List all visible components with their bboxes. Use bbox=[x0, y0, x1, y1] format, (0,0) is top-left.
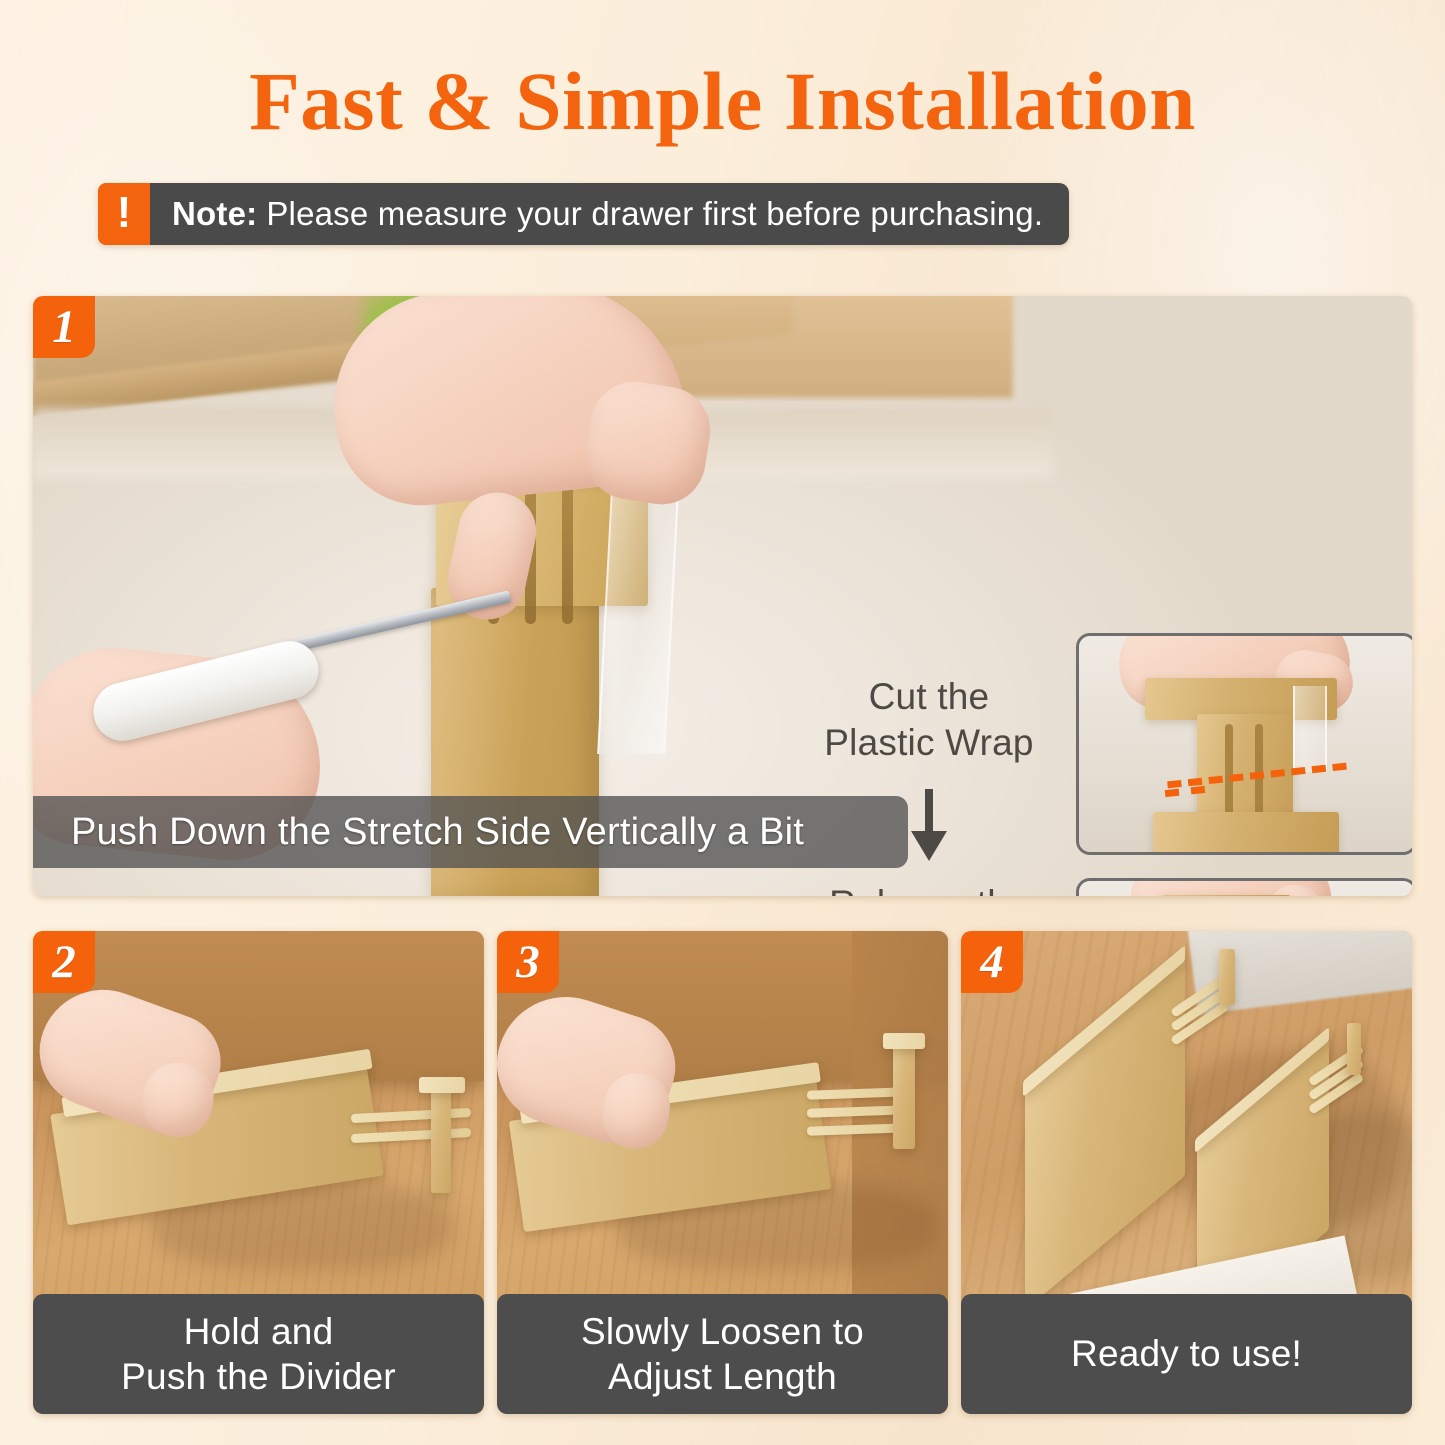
infographic-root: Fast & Simple Installation ! Note: Pleas… bbox=[0, 0, 1445, 1445]
divider-end-cap bbox=[883, 1033, 925, 1049]
caption-line: Push the Divider bbox=[121, 1354, 396, 1399]
note-label: Note: bbox=[172, 195, 257, 233]
caption-line: Hold and bbox=[184, 1309, 334, 1354]
down-arrow-icon bbox=[919, 789, 939, 861]
divider-end-cap bbox=[419, 1077, 465, 1093]
annotation-line: Plastic Wrap bbox=[793, 720, 1065, 766]
caption-line: Ready to use! bbox=[1071, 1331, 1302, 1376]
step-4-caption: Ready to use! bbox=[961, 1294, 1412, 1414]
note-message: Please measure your drawer first before … bbox=[266, 195, 1043, 233]
inset-divider-slot bbox=[1255, 724, 1263, 816]
step-4-badge: 4 bbox=[961, 931, 1023, 993]
inset-plastic-wrap bbox=[1293, 686, 1327, 772]
step-3-badge: 3 bbox=[497, 931, 559, 993]
step-1-badge: 1 bbox=[33, 296, 95, 358]
divider-slot bbox=[562, 474, 573, 624]
inset-divider-cap bbox=[1161, 895, 1291, 896]
note-banner: ! Note: Please measure your drawer first… bbox=[98, 183, 1069, 245]
inset-cut-line bbox=[1076, 633, 1412, 855]
divider-2-end-post bbox=[1347, 1023, 1361, 1075]
step-2-caption: Hold and Push the Divider bbox=[33, 1294, 484, 1414]
inset-divider-slot bbox=[1225, 724, 1233, 816]
annotation-line: Cut the bbox=[793, 674, 1065, 720]
divider-end-post bbox=[893, 1041, 915, 1149]
step-3-caption: Slowly Loosen to Adjust Length bbox=[497, 1294, 948, 1414]
step-3-panel: 3 Slowly Loosen to Adjust Length bbox=[497, 931, 948, 1414]
caption-line: Adjust Length bbox=[608, 1354, 837, 1399]
exclamation-icon: ! bbox=[98, 183, 150, 245]
caption-line: Slowly Loosen to bbox=[581, 1309, 864, 1354]
step-1-panel: 1 Cut the Plastic Wrap Release the Stret… bbox=[33, 296, 1412, 896]
step-1-caption: Push Down the Stretch Side Vertically a … bbox=[33, 796, 908, 868]
step-2-badge: 2 bbox=[33, 931, 95, 993]
divider-end-post bbox=[431, 1083, 451, 1193]
annotation-line: Release the bbox=[793, 881, 1065, 897]
inset-divider-base bbox=[1153, 812, 1339, 855]
divider-1-end-post bbox=[1219, 949, 1235, 1005]
note-text-container: Note: Please measure your drawer first b… bbox=[150, 183, 1069, 245]
page-title: Fast & Simple Installation bbox=[0, 60, 1445, 143]
step-2-panel: 2 Hold and Push the Divider bbox=[33, 931, 484, 1414]
step-4-panel: 4 Ready to use! bbox=[961, 931, 1412, 1414]
inset-release-slowly bbox=[1076, 878, 1412, 896]
